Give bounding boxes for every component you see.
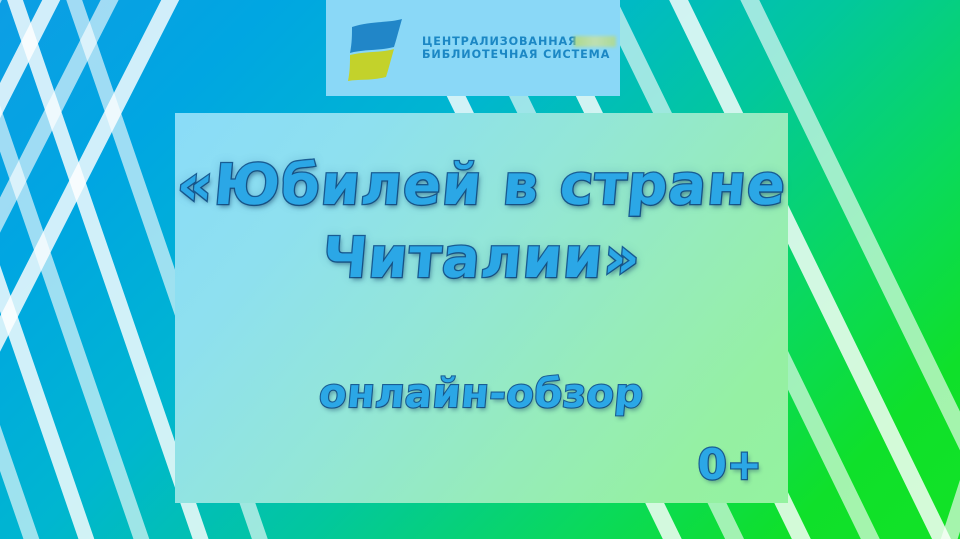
title-line-1: «Юбилей в стране [173, 159, 791, 214]
title-block: «Юбилей в стране Читалии» [175, 159, 788, 287]
stylized-book-pages-icon [340, 11, 414, 85]
subtitle: онлайн-обзор [173, 371, 790, 417]
main-content-panel: «Юбилей в стране Читалии» онлайн-обзор 0… [175, 113, 788, 503]
library-logo-text: ЦЕНТРАЛИЗОВАННАЯ БИБЛИОТЕЧНАЯ СИСТЕМА [422, 35, 610, 61]
presentation-slide: ЦЕНТРАЛИЗОВАННАЯ БИБЛИОТЕЧНАЯ СИСТЕМА «Ю… [0, 0, 960, 539]
title-line-2: Читалии» [173, 232, 791, 287]
logo-smudge-mark [574, 36, 616, 47]
age-rating-badge: 0+ [698, 440, 762, 489]
library-logo-panel: ЦЕНТРАЛИЗОВАННАЯ БИБЛИОТЕЧНАЯ СИСТЕМА [326, 0, 620, 96]
logo-line-2: БИБЛИОТЕЧНАЯ СИСТЕМА [422, 48, 610, 61]
